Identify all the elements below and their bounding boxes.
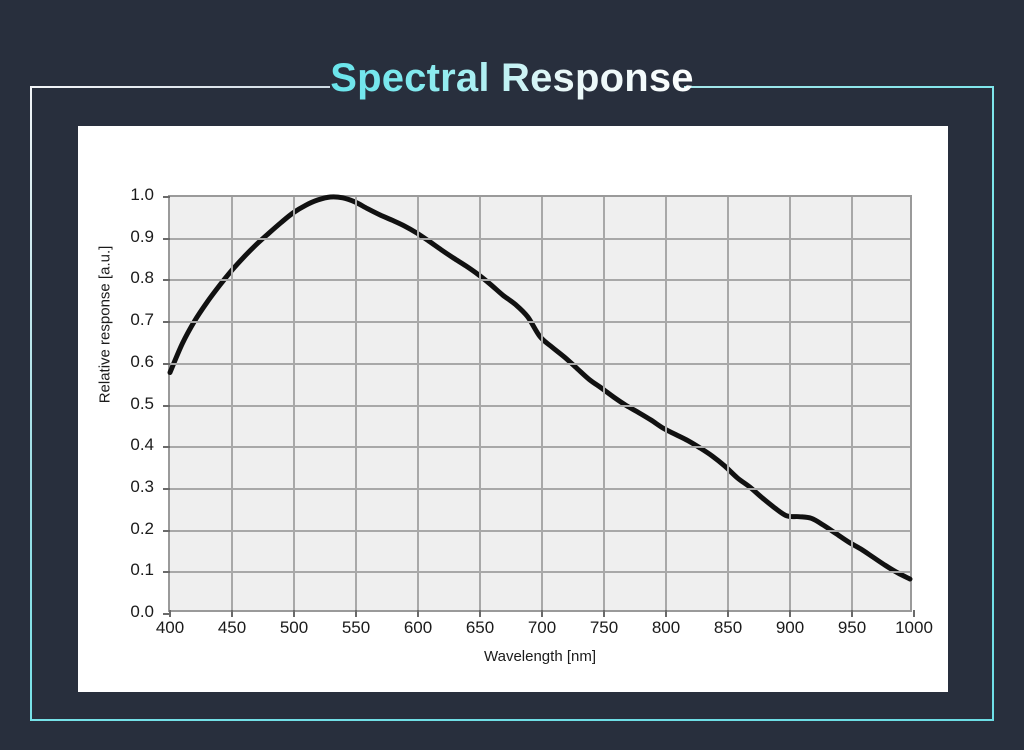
y-axis-tick	[163, 196, 170, 198]
x-axis-tick-label: 600	[404, 618, 432, 638]
x-axis-tick	[293, 610, 295, 617]
y-axis-tick	[163, 363, 170, 365]
gridline-horizontal	[170, 363, 910, 365]
x-axis-title: Wavelength [nm]	[168, 648, 912, 665]
y-axis-tick-label: 0.2	[130, 519, 154, 539]
y-axis-tick-label: 0.1	[130, 560, 154, 580]
y-axis-tick	[163, 238, 170, 240]
frame-right-edge	[992, 86, 994, 721]
gridline-vertical	[355, 197, 357, 610]
y-axis-tick-label: 0.5	[130, 394, 154, 414]
x-axis-tick	[479, 610, 481, 617]
frame-bottom-edge	[30, 719, 994, 721]
gridline-vertical	[789, 197, 791, 610]
y-axis-tick-label: 0.6	[130, 352, 154, 372]
y-axis-tick	[163, 279, 170, 281]
x-axis-tick	[913, 610, 915, 617]
x-axis-tick-label: 500	[280, 618, 308, 638]
y-axis-tick	[163, 321, 170, 323]
x-axis-tick-label: 800	[652, 618, 680, 638]
gridline-vertical	[603, 197, 605, 610]
frame-left-edge	[30, 86, 32, 721]
gridline-vertical	[479, 197, 481, 610]
gridline-horizontal	[170, 238, 910, 240]
title-container: Spectral Response	[0, 56, 1024, 101]
gridline-vertical	[541, 197, 543, 610]
y-axis-tick-label: 0.3	[130, 477, 154, 497]
response-curve	[170, 197, 910, 610]
x-axis-tick-label: 650	[466, 618, 494, 638]
x-axis-tick-label: 450	[218, 618, 246, 638]
y-axis-tick	[163, 571, 170, 573]
x-axis-tick	[789, 610, 791, 617]
gridline-horizontal	[170, 530, 910, 532]
page-title: Spectral Response	[308, 56, 716, 101]
y-axis-tick	[163, 613, 170, 615]
x-axis-tick	[355, 610, 357, 617]
y-axis-tick-label: 0.7	[130, 310, 154, 330]
curve-path	[170, 197, 910, 579]
y-axis-tick-label: 0.0	[130, 602, 154, 622]
gridline-vertical	[727, 197, 729, 610]
gridline-horizontal	[170, 446, 910, 448]
gridline-horizontal	[170, 279, 910, 281]
y-axis-tick-label: 0.8	[130, 268, 154, 288]
y-axis-tick	[163, 446, 170, 448]
chart-card: Relative response [a.u.] 0.00.10.20.30.4…	[78, 126, 948, 692]
gridline-vertical	[231, 197, 233, 610]
gridline-horizontal	[170, 321, 910, 323]
x-axis-tick	[541, 610, 543, 617]
plot-area	[168, 195, 912, 612]
x-axis-tick-label: 750	[590, 618, 618, 638]
slide-canvas: Spectral Response Relative response [a.u…	[0, 0, 1024, 750]
x-axis-tick-label: 900	[776, 618, 804, 638]
x-axis-tick-label: 700	[528, 618, 556, 638]
x-axis-tick-labels: 4004505005506006507007508008509009501000	[168, 618, 916, 644]
y-axis-tick	[163, 530, 170, 532]
x-axis-tick	[665, 610, 667, 617]
spectral-response-chart: Relative response [a.u.] 0.00.10.20.30.4…	[78, 126, 948, 692]
y-axis-tick-label: 0.9	[130, 227, 154, 247]
x-axis-tick-label: 1000	[895, 618, 933, 638]
x-axis-tick	[727, 610, 729, 617]
x-axis-tick	[603, 610, 605, 617]
gridline-horizontal	[170, 405, 910, 407]
x-axis-tick-label: 550	[342, 618, 370, 638]
y-axis-tick	[163, 488, 170, 490]
x-axis-tick	[851, 610, 853, 617]
x-axis-tick	[231, 610, 233, 617]
gridline-horizontal	[170, 488, 910, 490]
gridline-vertical	[417, 197, 419, 610]
gridline-horizontal	[170, 571, 910, 573]
x-axis-tick-label: 400	[156, 618, 184, 638]
y-axis-tick-label: 0.4	[130, 435, 154, 455]
gridline-vertical	[665, 197, 667, 610]
x-axis-tick	[417, 610, 419, 617]
gridline-vertical	[293, 197, 295, 610]
gridline-vertical	[851, 197, 853, 610]
y-axis-tick-label: 1.0	[130, 185, 154, 205]
y-axis-tick	[163, 405, 170, 407]
y-axis-tick-labels: 0.00.10.20.30.40.50.60.70.80.91.0	[78, 195, 164, 612]
x-axis-tick-label: 950	[838, 618, 866, 638]
x-axis-tick-label: 850	[714, 618, 742, 638]
